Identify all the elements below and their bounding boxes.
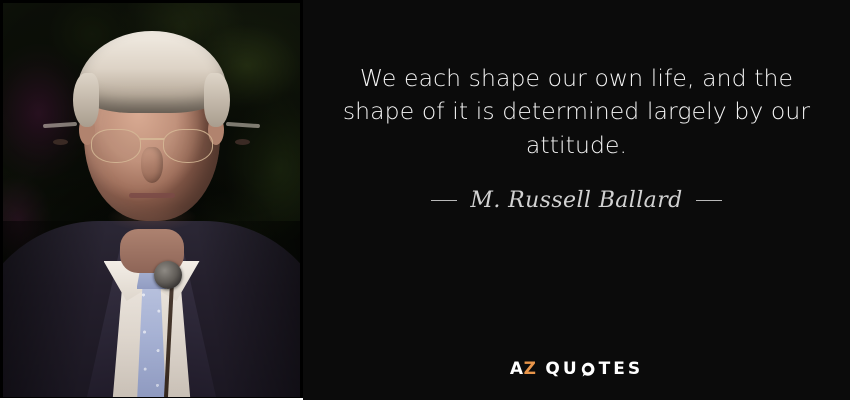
speech-bubble-icon: [581, 362, 596, 377]
quote-text: We each shape our own life, and the shap…: [339, 0, 814, 162]
logo-quotes-wordmark: QUTES: [545, 361, 643, 378]
logo-letters-tes: TES: [599, 361, 643, 378]
nose: [141, 147, 163, 183]
azquotes-logo[interactable]: AZ QUTES: [510, 361, 643, 378]
quote-card: We each shape our own life, and the shap…: [0, 0, 850, 400]
eye-left: [53, 139, 68, 145]
logo-letter-q: Q: [545, 361, 562, 378]
eyeglass-bridge: [140, 138, 164, 140]
attribution-dash-right: [696, 200, 722, 201]
eyeglass-lens-right: [163, 129, 213, 163]
mouth: [129, 193, 175, 198]
logo-letter-u: U: [563, 361, 580, 378]
quote-author-name: M. Russell Ballard: [470, 188, 682, 213]
logo-letter-a: A: [510, 359, 524, 379]
portrait-frame: [3, 3, 300, 397]
eye-right: [235, 139, 250, 145]
hair-right-side: [204, 73, 230, 127]
microphone-head: [154, 261, 182, 289]
author-portrait-photo: [3, 3, 300, 397]
logo-letter-z: Z: [524, 359, 537, 379]
eyeglass-lens-left: [91, 129, 141, 163]
logo-az-wordmark: AZ: [510, 361, 537, 378]
quote-panel: We each shape our own life, and the shap…: [303, 0, 850, 400]
portrait-panel: [0, 0, 303, 400]
hair-left-side: [73, 73, 99, 127]
chin-shadow: [108, 203, 196, 231]
quote-attribution: M. Russell Ballard: [339, 188, 814, 213]
attribution-dash-left: [431, 200, 457, 201]
